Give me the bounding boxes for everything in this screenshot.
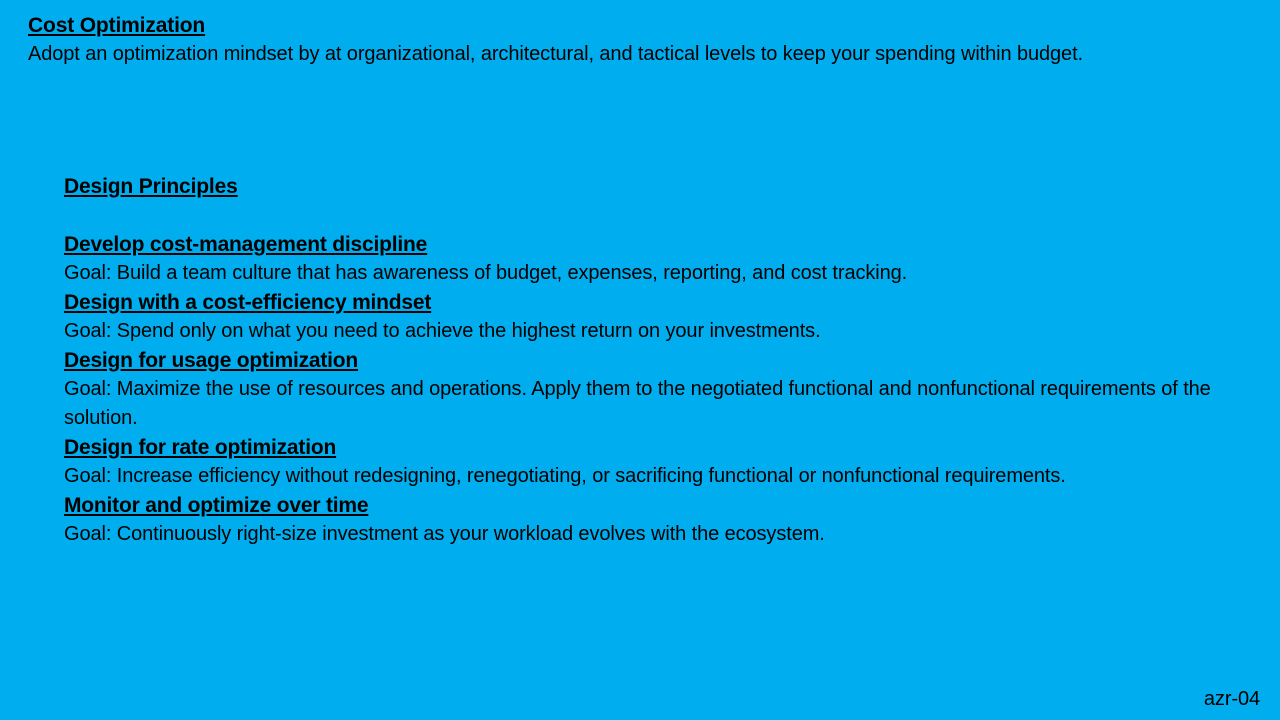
design-principles-block: Design Principles Develop cost-managemen… (64, 172, 1224, 549)
principle-goal: Goal: Maximize the use of resources and … (64, 375, 1214, 433)
principle-goal: Goal: Spend only on what you need to ach… (64, 317, 1224, 346)
principle-goal: Goal: Build a team culture that has awar… (64, 259, 1224, 288)
principle-name: Design for usage optimization (64, 346, 1224, 375)
principle-goal: Goal: Continuously right-size investment… (64, 520, 1224, 549)
slide-canvas: Cost Optimization Adopt an optimization … (0, 0, 1280, 720)
design-principles-heading: Design Principles (64, 172, 1224, 201)
slide-footer-label: azr-04 (1204, 686, 1260, 712)
principle-item: Design for usage optimization Goal: Maxi… (64, 346, 1224, 433)
spacer (64, 201, 1224, 230)
principle-name: Design for rate optimization (64, 433, 1224, 462)
principle-name: Design with a cost-efficiency mindset (64, 288, 1224, 317)
principle-name: Develop cost-management discipline (64, 230, 1224, 259)
intro-description: Adopt an optimization mindset by at orga… (28, 40, 1198, 69)
principle-name: Monitor and optimize over time (64, 491, 1224, 520)
page-title: Cost Optimization (28, 11, 1208, 40)
principle-item: Develop cost-management discipline Goal:… (64, 230, 1224, 288)
principle-item: Design for rate optimization Goal: Incre… (64, 433, 1224, 491)
principle-item: Design with a cost-efficiency mindset Go… (64, 288, 1224, 346)
principle-goal: Goal: Increase efficiency without redesi… (64, 462, 1112, 491)
principle-item: Monitor and optimize over time Goal: Con… (64, 491, 1224, 549)
intro-block: Cost Optimization Adopt an optimization … (28, 11, 1208, 69)
